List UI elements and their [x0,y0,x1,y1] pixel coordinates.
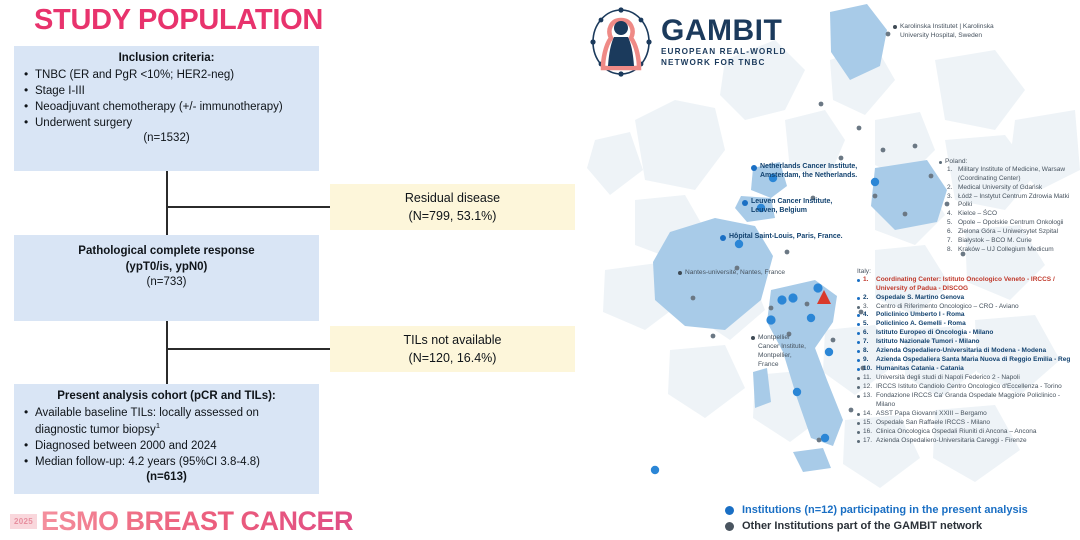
map-legend: Institutions (n=12) participating in the… [725,504,1028,536]
connector-line-vertical-lower [166,321,168,384]
institution-list-poland: Poland: 1.Military Institute of Medicine… [939,158,1079,255]
item-name: Łódź – Instytut Centrum Zdrowia Matki Po… [958,193,1079,210]
gambit-logo: GAMBIT EUROPEAN REAL-WORLD NETWORK FOR T… [587,6,787,78]
item-number: 3. [863,303,876,310]
legend-label: Institutions (n=12) participating in the… [742,504,1028,516]
item-number: 17. [863,437,876,444]
list-item: TNBC (ER and PgR <10%; HER2-neg) [22,68,311,83]
item-name: Białystok – BCO M. Curie [958,237,1032,246]
map-label-text: Karolinska Institutet | Karolinska Unive… [900,23,1023,41]
gambit-pawn-emblem-icon [587,6,655,78]
list-item: 11.Università degli studi di Napoli Fede… [857,374,1080,383]
item-name: Medical University of Gdańsk [958,184,1042,193]
list-item: 10.Humanitas Catania - Catania [857,365,1080,374]
item-number: 7. [863,338,876,345]
map-marker-dot-icon [857,350,860,353]
flowchart-box-inclusion-criteria: Inclusion criteria: TNBC (ER and PgR <10… [14,46,319,171]
item-name: IRCCS Istituto Candiolo Centro Oncologic… [876,383,1062,392]
item-name: Kraków – UJ Collegium Medicum [958,246,1054,255]
map-label-leuven-cancer-institute: Leuven Cancer Institute, Leuven, Belgium [742,197,852,216]
item-number: 9. [863,356,876,363]
pcr-subheading: (ypT0/is, ypN0) [22,260,311,276]
inclusion-criteria-list: TNBC (ER and PgR <10%; HER2-neg) Stage I… [22,68,311,132]
map-marker-dot-icon [857,306,860,309]
item-number: 4. [947,210,958,217]
list-item: 6.Zielona Góra – Uniwersytet Szpital [947,228,1079,237]
item-name: Policlinico Umberto I - Roma [876,311,964,320]
map-marker-dot-icon [857,431,860,434]
footnote-marker: 1 [156,421,160,430]
page-title: STUDY POPULATION [34,4,323,37]
list-item: 4.Policlinico Umberto I - Roma [857,311,1080,320]
map-marker-dot-icon [857,368,860,371]
map-marker-dot-icon [857,323,860,326]
list-item: 8.Kraków – UJ Collegium Medicum [947,246,1079,255]
item-number: 1. [947,166,958,173]
inclusion-count: (n=1532) [22,132,311,144]
item-name: Kielce – ŚCO [958,210,997,219]
map-marker-dot-icon [857,422,860,425]
map-label-hopital-saint-louis: Hôpital Saint-Louis, Paris, France. [720,232,850,241]
map-label-montpellier-cancer-institute: Montpellier Cancer Institute, Montpellie… [751,334,809,370]
list-item: 2.Medical University of Gdańsk [947,184,1079,193]
connector-line-horizontal-residual [166,206,330,208]
item-number: 2. [947,184,958,191]
institution-list-italy: Italy: 1.Coordinating Center: Istituto O… [857,268,1080,446]
item-number: 3. [947,193,958,200]
flowchart-box-present-analysis-cohort: Present analysis cohort (pCR and TILs): … [14,384,319,494]
item-number: 10. [863,365,876,372]
list-item: 6.Istituto Europeo di Oncologia - Milano [857,329,1080,338]
study-population-panel: STUDY POPULATION Inclusion criteria: TNB… [0,0,575,540]
italy-rows: 1.Coordinating Center: Istituto Oncologi… [857,276,1080,445]
item-name: Ospedale S. Martino Genova [876,294,964,303]
congress-name: ESMO BREAST CANCER [41,506,353,537]
list-item: 1.Military Institute of Medicine, Warsaw… [947,166,1079,183]
map-marker-dot-icon [751,165,757,171]
list-item: Underwent surgery [22,116,311,131]
item-name: Military Institute of Medicine, Warsaw (… [958,166,1079,183]
list-item: 9.Azienda Ospedaliera Santa Maria Nuova … [857,356,1080,365]
list-item: Neoadjuvant chemotherapy (+/- immunother… [22,100,311,115]
list-item: 12.IRCCS Istituto Candiolo Centro Oncolo… [857,383,1080,392]
connector-line-horizontal-tils [166,348,330,350]
country-heading: Poland: [945,158,967,165]
list-item: 2.Ospedale S. Martino Genova [857,294,1080,303]
map-marker-dot-icon [720,235,726,241]
map-label-nantes-universite: Nantes-université, Nantes, France [678,269,808,278]
item-number: 15. [863,419,876,426]
map-marker-dot-icon [893,25,897,29]
map-marker-dot-icon [857,314,860,317]
legend-dot-icon [725,506,734,515]
inclusion-heading: Inclusion criteria: [22,51,311,67]
list-item: 5.Opole – Opolskie Centrum Onkologii [947,219,1079,228]
item-number: 8. [947,246,958,253]
list-item: 3.Centro di Riferimento Oncologico – CRO… [857,303,1080,312]
item-name: Azienda Ospedaliero-Universitaria di Mod… [876,347,1046,356]
item-name: Policlinico A. Gemelli - Roma [876,320,966,329]
item-name: Azienda Ospedaliero-Universitaria Caregg… [876,437,1027,446]
legend-dot-icon [725,522,734,531]
list-item: 13.Fondazione IRCCS Ca' Granda Ospedale … [857,392,1080,409]
list-item: 4.Kielce – ŚCO [947,210,1079,219]
country-heading: Italy: [857,268,1080,275]
list-item: 7.Białystok – BCO M. Curie [947,237,1079,246]
map-label-karolinska: Karolinska Institutet | Karolinska Unive… [893,23,1023,41]
gambit-tagline-line1: EUROPEAN REAL-WORLD [661,46,787,57]
item-number: 6. [947,228,958,235]
map-marker-dot-icon [857,440,860,443]
list-item: 1.Coordinating Center: Istituto Oncologi… [857,276,1080,293]
map-marker-dot-icon [751,336,755,340]
item-number: 13. [863,392,876,399]
map-marker-dot-icon [857,332,860,335]
item-number: 8. [863,347,876,354]
item-name: Opole – Opolskie Centrum Onkologii [958,219,1064,228]
list-item: 8.Azienda Ospedaliero-Universitaria di M… [857,347,1080,356]
item-number: 14. [863,410,876,417]
map-marker-dot-icon [857,413,860,416]
map-marker-dot-icon [857,359,860,362]
cohort-count: (n=613) [22,471,311,483]
country-heading-row: Poland: [939,158,1079,166]
residual-count: (N=799, 53.1%) [338,207,567,225]
legend-label: Other Institutions part of the GAMBIT ne… [742,520,982,532]
connector-line-vertical-upper [166,171,168,235]
list-item: 14.ASST Papa Giovanni XXIII – Bergamo [857,410,1080,419]
list-item: 17.Azienda Ospedaliero-Universitaria Car… [857,437,1080,446]
legend-item-other: Other Institutions part of the GAMBIT ne… [725,520,1028,532]
item-name: ASST Papa Giovanni XXIII – Bergamo [876,410,987,419]
item-number: 12. [863,383,876,390]
item-name: Università degli studi di Napoli Federic… [876,374,1020,383]
gambit-network-map-panel: GAMBIT EUROPEAN REAL-WORLD NETWORK FOR T… [575,0,1080,540]
flowchart-box-residual-disease: Residual disease (N=799, 53.1%) [330,184,575,230]
tils-unavailable-count: (N=120, 16.4%) [338,349,567,367]
map-label-text: Hôpital Saint-Louis, Paris, France. [729,232,843,241]
list-item: 15.Ospedale San Raffaele IRCCS - Milano [857,419,1080,428]
item-name: Istituto Europeo di Oncologia - Milano [876,329,993,338]
residual-label: Residual disease [338,189,567,207]
cohort-item-text: Available baseline TILs: locally assesse… [35,407,259,436]
item-number: 7. [947,237,958,244]
pcr-count: (n=733) [22,276,311,288]
list-item: 16.Clinica Oncologica Ospedali Riuniti d… [857,428,1080,437]
item-name: Coordinating Center: Istituto Oncologico… [876,276,1080,293]
map-marker-dot-icon [939,161,942,164]
cohort-criteria-list: Available baseline TILs: locally assesse… [22,406,311,471]
item-number: 16. [863,428,876,435]
item-number: 5. [863,320,876,327]
map-marker-dot-icon [857,341,860,344]
map-marker-dot-icon [857,297,860,300]
item-name: Ospedale San Raffaele IRCCS - Milano [876,419,990,428]
flowchart-box-pathological-complete-response: Pathological complete response (ypT0/is,… [14,235,319,321]
esmo-congress-logo: 2025 ESMO BREAST CANCER [10,505,353,537]
tils-unavailable-label: TILs not available [338,331,567,349]
list-item: 5.Policlinico A. Gemelli - Roma [857,320,1080,329]
item-number: 6. [863,329,876,336]
map-marker-dot-icon [857,279,860,282]
map-marker-dot-icon [742,200,748,206]
map-label-netherlands-cancer-institute: Netherlands Cancer Institute, Amsterdam,… [751,162,871,181]
pcr-heading: Pathological complete response [22,244,311,260]
item-name: Fondazione IRCCS Ca' Granda Ospedale Mag… [876,392,1080,409]
list-item: 7.Istituto Nazionale Tumori - Milano [857,338,1080,347]
item-number: 11. [863,374,876,381]
map-label-text: Leuven Cancer Institute, Leuven, Belgium [751,197,852,216]
item-name: Clinica Oncologica Ospedali Riuniti di A… [876,428,1036,437]
list-item: Available baseline TILs: locally assesse… [22,406,311,438]
item-name: Zielona Góra – Uniwersytet Szpital [958,228,1058,237]
item-name: Centro di Riferimento Oncologico – CRO -… [876,303,1019,312]
item-number: 2. [863,294,876,301]
list-item: 3.Łódź – Instytut Centrum Zdrowia Matki … [947,193,1079,210]
item-name: Azienda Ospedaliera Santa Maria Nuova di… [876,356,1070,365]
item-name: Humanitas Catania - Catania [876,365,964,374]
map-marker-dot-icon [678,271,682,275]
item-number: 5. [947,219,958,226]
map-label-text: Montpellier Cancer Institute, Montpellie… [758,334,809,370]
gambit-wordmark: GAMBIT [661,16,787,46]
map-marker-dot-icon [857,386,860,389]
map-marker-dot-icon [857,377,860,380]
gambit-logo-text: GAMBIT EUROPEAN REAL-WORLD NETWORK FOR T… [661,16,787,68]
item-name: Istituto Nazionale Tumori - Milano [876,338,980,347]
map-marker-dot-icon [857,395,860,398]
map-label-text: Nantes-université, Nantes, France [685,269,785,278]
flowchart-box-tils-not-available: TILs not available (N=120, 16.4%) [330,326,575,372]
map-label-text: Netherlands Cancer Institute, Amsterdam,… [760,162,871,181]
list-item: Diagnosed between 2000 and 2024 [22,439,311,454]
cohort-heading: Present analysis cohort (pCR and TILs): [22,389,311,405]
gambit-tagline-line2: NETWORK FOR TNBC [661,57,787,68]
congress-year: 2025 [10,514,37,529]
legend-item-participating: Institutions (n=12) participating in the… [725,504,1028,516]
list-item: Median follow-up: 4.2 years (95%CI 3.8-4… [22,455,311,470]
item-number: 4. [863,311,876,318]
list-item: Stage I-III [22,84,311,99]
item-number: 1. [863,276,876,283]
